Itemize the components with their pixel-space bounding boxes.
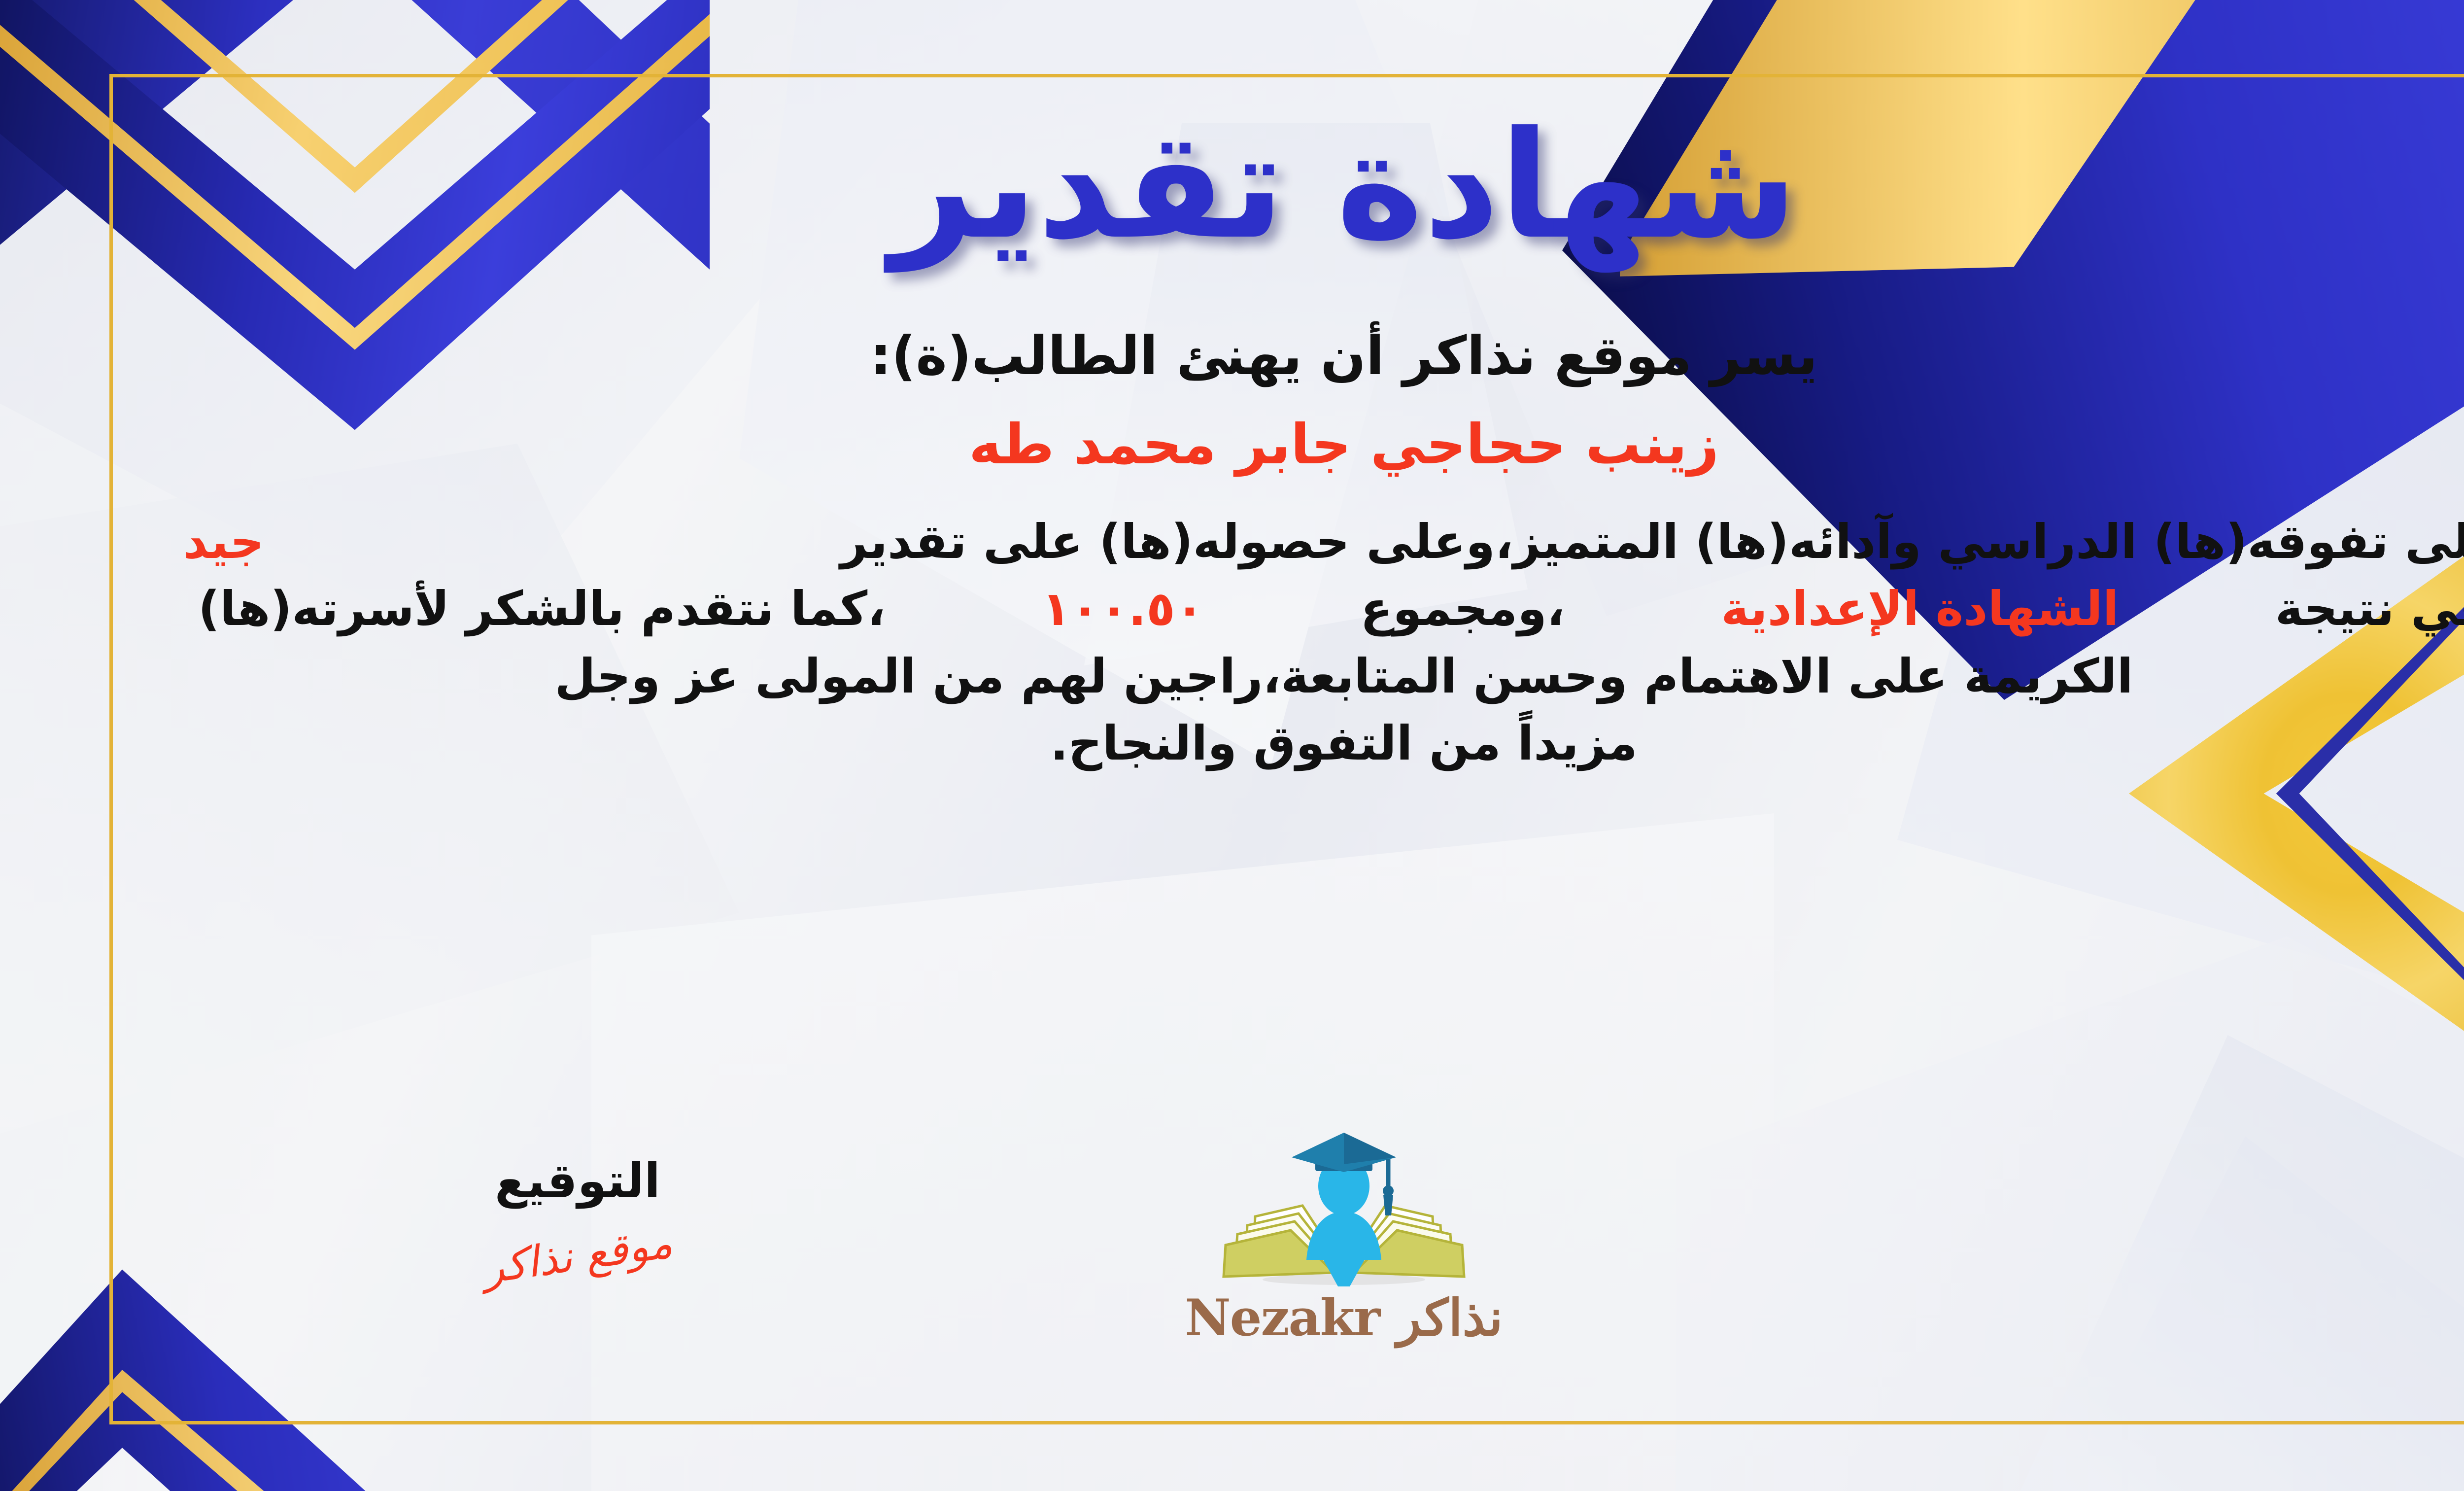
- signature-block: التوقيع موقع نذاكر: [420, 1153, 735, 1281]
- salutation-text: يسر موقع نذاكر أن يهنئ الطالب(ة):: [870, 325, 1818, 387]
- achievement-text: على تفوقه(ها) الدراسي وآدائه(ها) المتميز…: [840, 508, 2464, 575]
- graduate-book-icon: [1206, 1129, 1482, 1291]
- exam-name: الشهادة الإعدادية: [1721, 575, 2119, 642]
- body-line-family-thanks: الكريمة على الاهتمام وحسن المتابعة،راجين…: [183, 643, 2464, 710]
- total-prefix-text: ،ومجموع: [1360, 575, 1565, 642]
- body-line-achievement: على تفوقه(ها) الدراسي وآدائه(ها) المتميز…: [183, 508, 2464, 575]
- logo-wordmark: نذاكر Nezakr: [1185, 1288, 1503, 1348]
- signature-mark: موقع نذاكر: [480, 1218, 675, 1294]
- certificate-body: على تفوقه(ها) الدراسي وآدائه(ها) المتميز…: [183, 508, 2464, 777]
- body-line-wishes: مزيداً من التفوق والنجاح.: [183, 710, 2464, 777]
- certificate-footer: التوقيع موقع نذاكر: [109, 1148, 2464, 1424]
- site-logo: نذاكر Nezakr: [1157, 1129, 1531, 1348]
- exam-prefix-text: في نتيجة: [2275, 575, 2464, 642]
- certificate-page: شهادة تقدير يسر موقع نذاكر أن يهنئ الطال…: [0, 0, 2464, 1491]
- total-score-value: ١٠٠.٥٠: [1042, 575, 1204, 642]
- grade-value: جيد: [183, 508, 264, 575]
- thanks-text: ،كما نتقدم بالشكر لأسرته(ها): [198, 575, 886, 642]
- student-name: زينب حجاجي جابر محمد طه: [969, 413, 1719, 477]
- signature-label: التوقيع: [420, 1153, 735, 1209]
- body-line-exam-and-score: في نتيجة الشهادة الإعدادية ،ومجموع ١٠٠.٥…: [183, 575, 2464, 642]
- certificate-title: شهادة تقدير: [890, 110, 1798, 261]
